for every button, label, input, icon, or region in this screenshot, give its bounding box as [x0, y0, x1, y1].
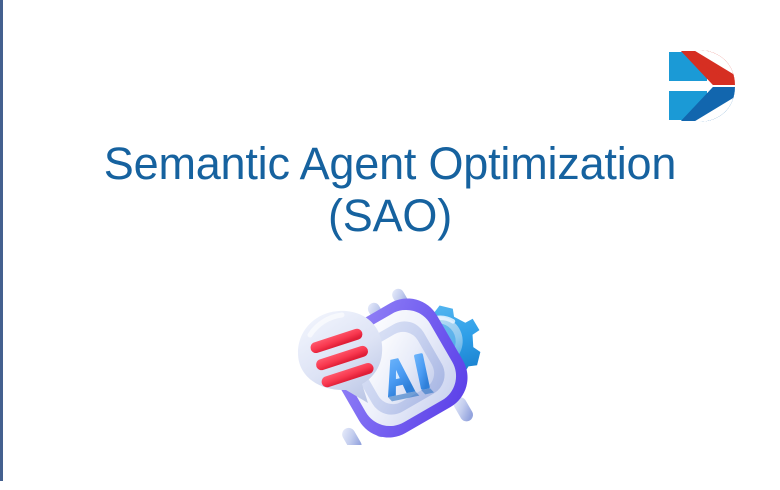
slide-canvas: Semantic Agent Optimization (SAO) — [0, 0, 780, 490]
page-title-line-1: Semantic Agent Optimization — [40, 138, 740, 190]
company-d-logo[interactable] — [663, 48, 737, 124]
page-title: Semantic Agent Optimization (SAO) — [40, 138, 740, 242]
left-accent-bar — [0, 0, 3, 481]
ai-chip-gear-illustration — [280, 263, 502, 445]
page-title-line-2: (SAO) — [40, 190, 740, 242]
